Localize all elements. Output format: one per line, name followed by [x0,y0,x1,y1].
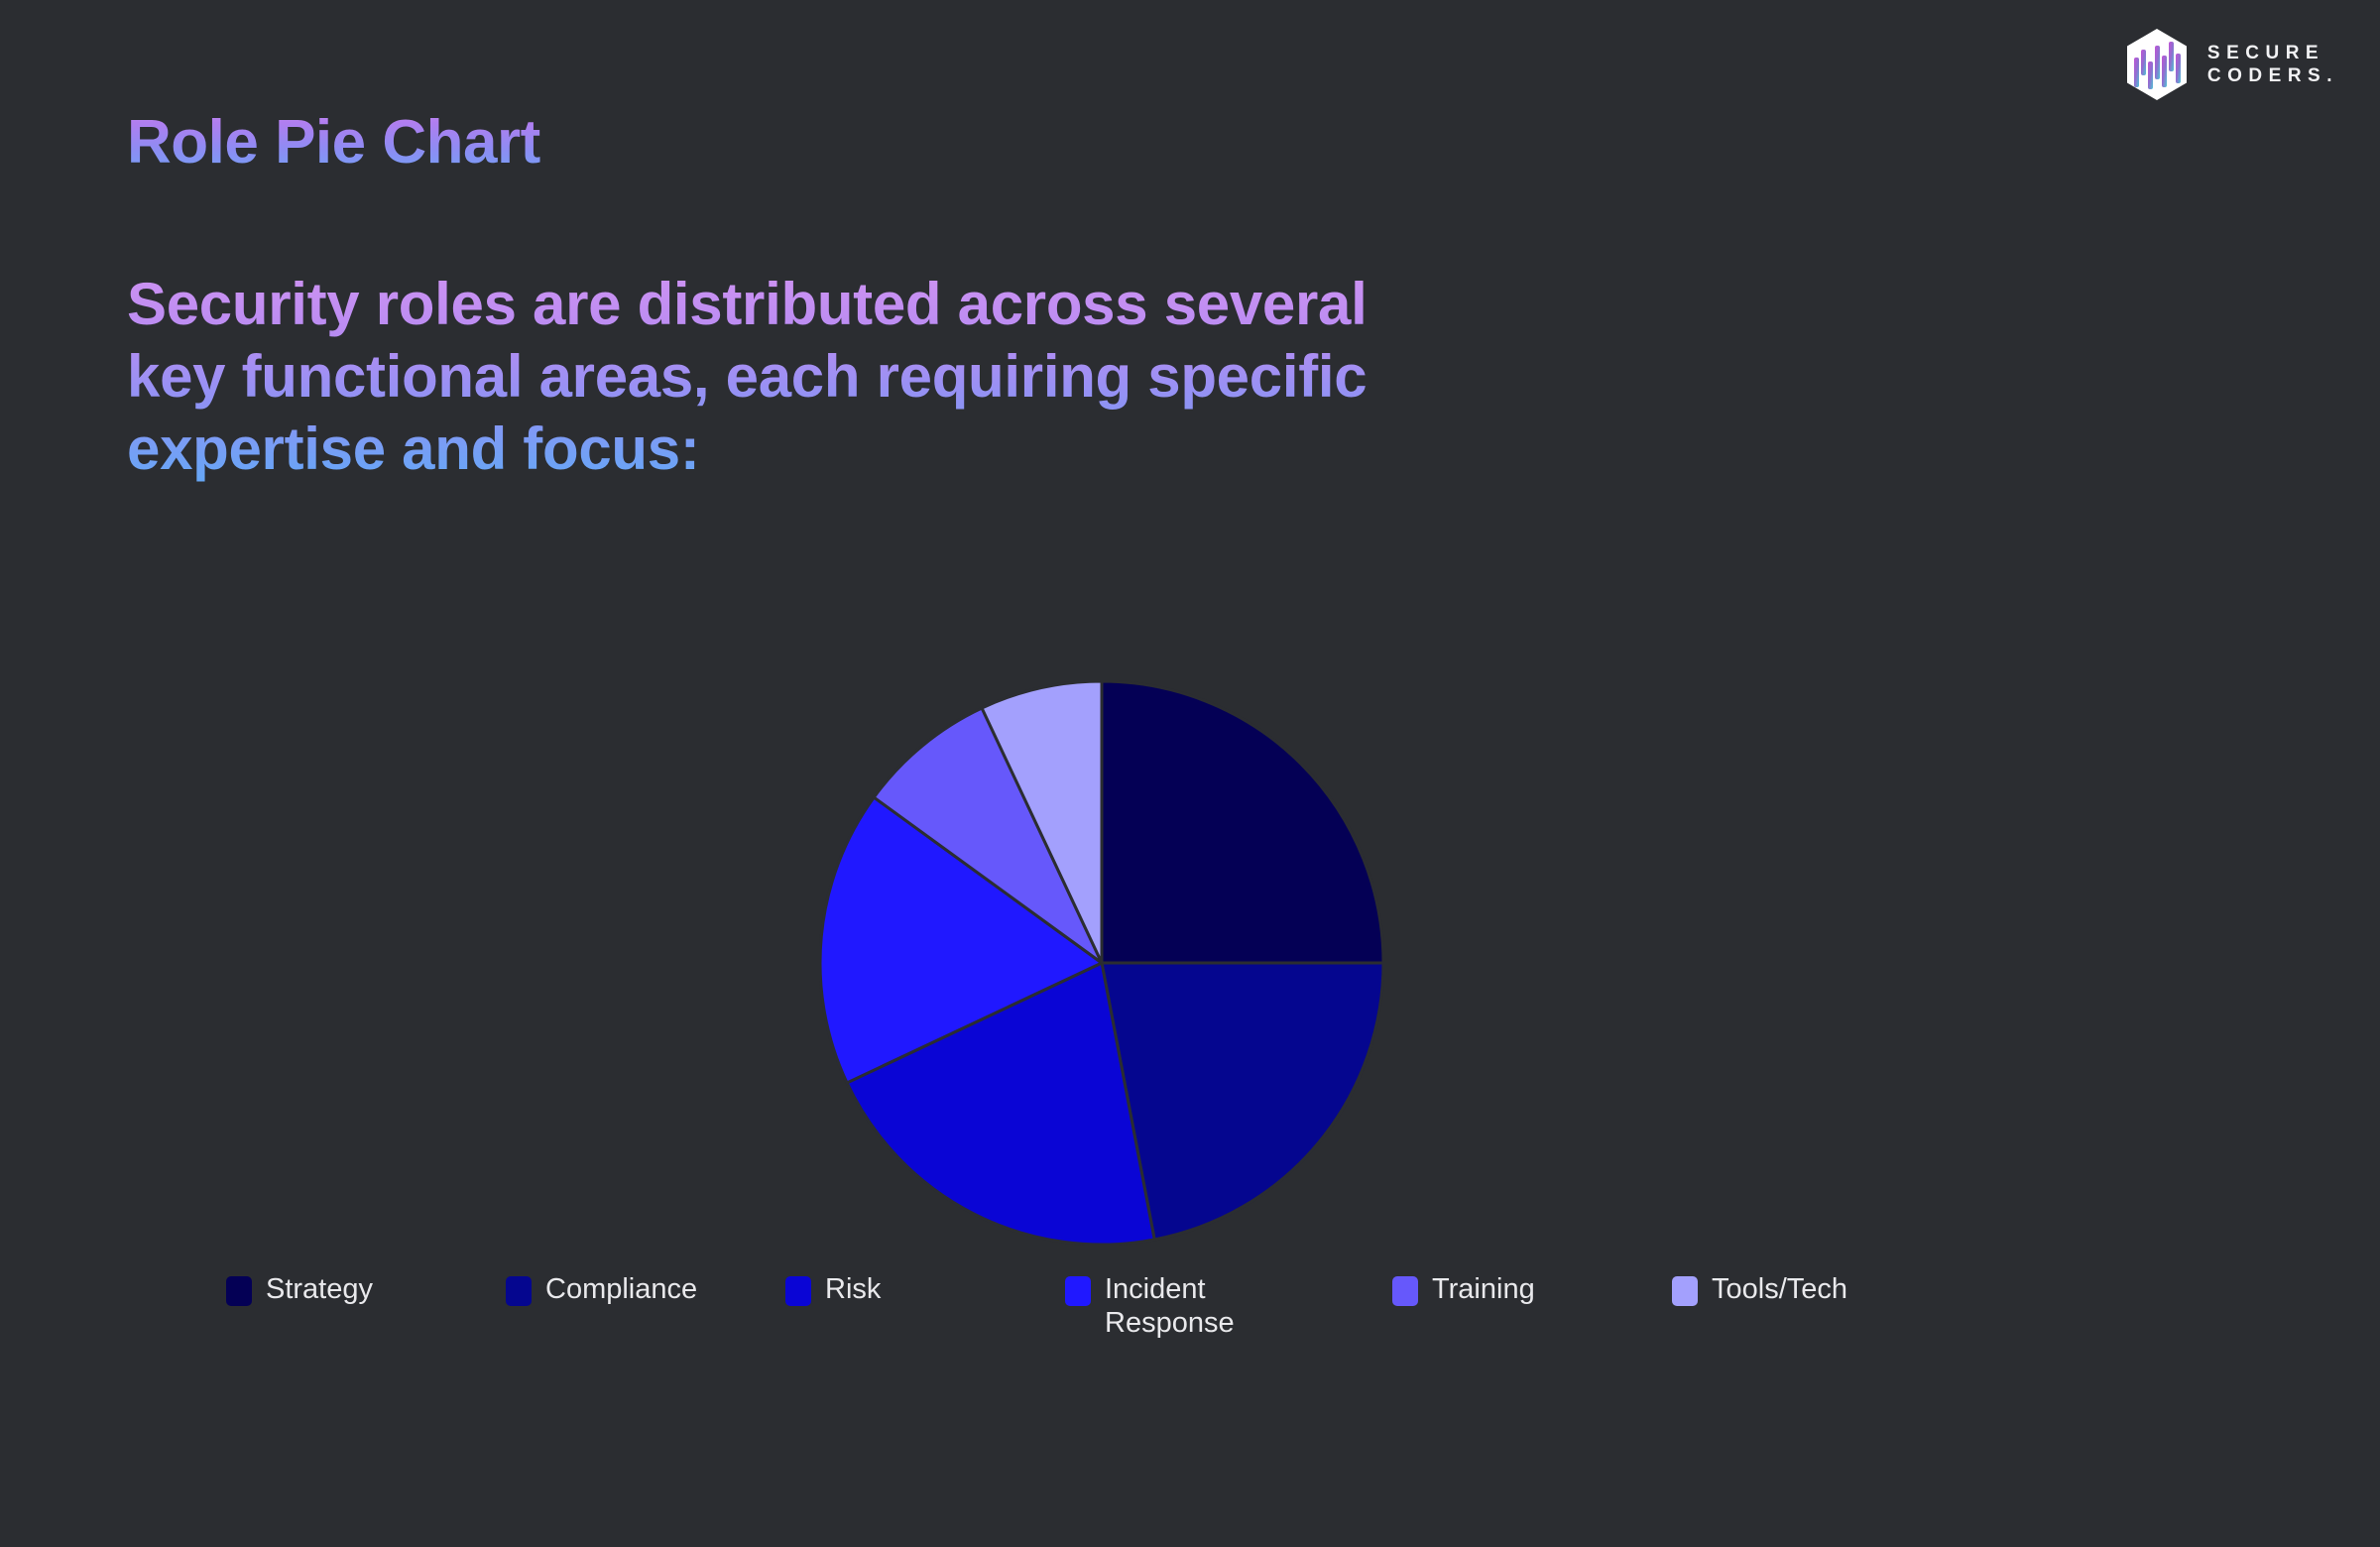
page-title: Role Pie Chart [127,107,540,178]
subtitle-line-3: expertise and focus: [127,413,2110,485]
legend-item-label: Strategy [266,1272,373,1306]
legend-item[interactable]: Tools/Tech [1672,1272,1952,1306]
pie-chart [819,680,1384,1246]
chart-legend: StrategyComplianceRiskIncident ResponseT… [226,1272,2160,1340]
legend-item[interactable]: Compliance [506,1272,785,1306]
brand-logo: SECURE CODERS. [2124,28,2338,101]
legend-swatch-icon [506,1276,532,1306]
legend-item-label: Tools/Tech [1712,1272,1847,1306]
pie-slice-strategy[interactable] [1102,681,1383,963]
legend-swatch-icon [785,1276,811,1306]
legend-swatch-icon [1672,1276,1698,1306]
legend-item[interactable]: Strategy [226,1272,506,1306]
hexagon-bars-logo-icon [2124,28,2190,101]
brand-name-line2: CODERS. [2207,64,2338,87]
legend-swatch-icon [1392,1276,1418,1306]
legend-swatch-icon [226,1276,252,1306]
subtitle-line-2: key functional areas, each requiring spe… [127,340,2110,413]
legend-item-label: Incident Response [1105,1272,1235,1340]
subtitle-line-1: Security roles are distributed across se… [127,268,2110,340]
pie-chart-svg [819,680,1384,1246]
legend-item-label: Training [1432,1272,1535,1306]
legend-item-label: Risk [825,1272,881,1306]
legend-item[interactable]: Incident Response [1065,1272,1392,1340]
brand-wordmark: SECURE CODERS. [2207,42,2338,87]
legend-item-label: Compliance [545,1272,697,1306]
page-subtitle: Security roles are distributed across se… [127,268,2110,486]
legend-item[interactable]: Training [1392,1272,1672,1306]
brand-name-line1: SECURE [2207,42,2338,64]
legend-item[interactable]: Risk [785,1272,1065,1306]
legend-swatch-icon [1065,1276,1091,1306]
slide-root: SECURE CODERS. Role Pie Chart Security r… [0,0,2380,1547]
